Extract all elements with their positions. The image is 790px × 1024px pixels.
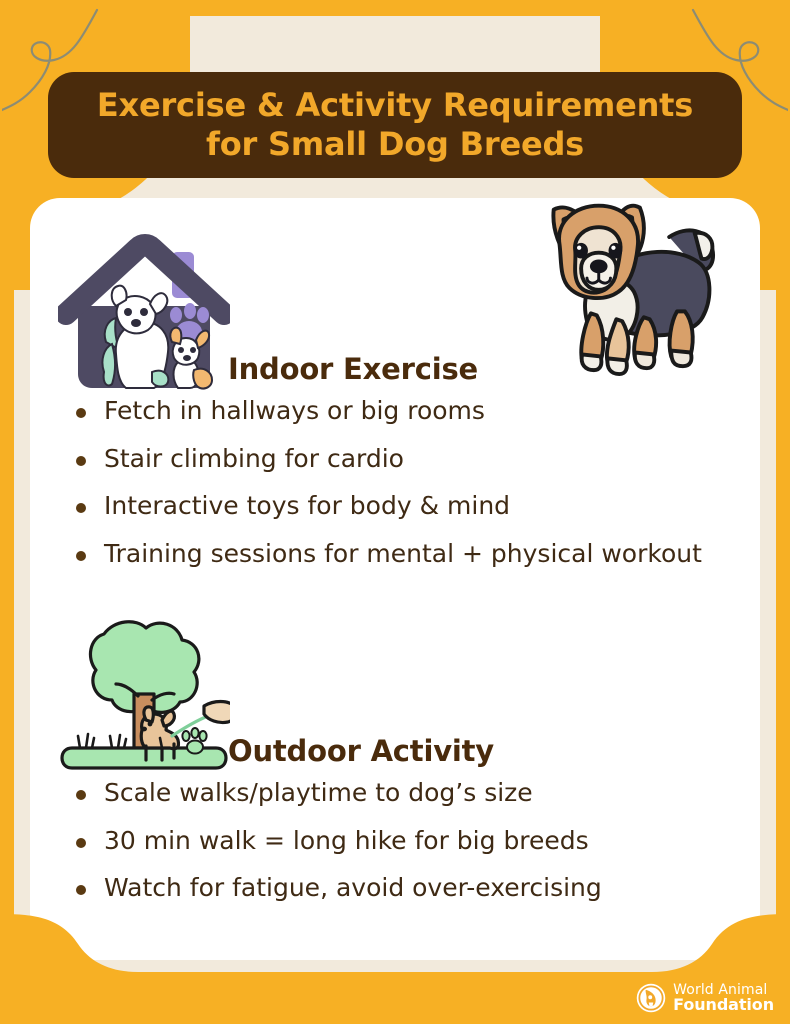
list-item: Scale walks/playtime to dog’s size [72, 780, 742, 806]
list-item: Fetch in hallways or big rooms [72, 398, 742, 424]
list-item: 30 min walk = long hike for big breeds [72, 828, 742, 854]
section-indoor-title: Indoor Exercise [228, 352, 478, 386]
indoor-bullet-list: Fetch in hallways or big rooms Stair cli… [30, 398, 760, 566]
section-outdoor-title: Outdoor Activity [228, 734, 494, 768]
house-with-dogs-icon [58, 222, 230, 394]
logo-wordmark: World Animal Foundation [673, 983, 774, 1014]
list-item: Watch for fatigue, avoid over-exercising [72, 875, 742, 901]
list-item: Training sessions for mental + physical … [72, 541, 742, 567]
list-item: Interactive toys for body & mind [72, 493, 742, 519]
poster-title-banner: Exercise & Activity Requirements for Sma… [48, 72, 742, 178]
infographic-poster: Exercise & Activity Requirements for Sma… [0, 0, 790, 1024]
section-outdoor-header: Outdoor Activity [30, 608, 760, 780]
page-title: Exercise & Activity Requirements for Sma… [97, 86, 693, 164]
outdoor-bullet-list: Scale walks/playtime to dog’s size 30 mi… [30, 780, 760, 901]
section-indoor-exercise: Indoor Exercise Fetch in hallways or big… [30, 222, 760, 588]
world-animal-foundation-logo: World Animal Foundation [636, 983, 774, 1014]
section-indoor-header: Indoor Exercise [30, 222, 760, 398]
content-card: Indoor Exercise Fetch in hallways or big… [30, 198, 760, 960]
world-animal-foundation-emblem-icon [636, 983, 666, 1013]
logo-line-2: Foundation [673, 997, 774, 1014]
page-title-line-1: Exercise & Activity Requirements [97, 86, 693, 125]
page-title-line-2: for Small Dog Breeds [97, 125, 693, 164]
tree-with-dog-on-leash-icon [58, 608, 230, 780]
list-item: Stair climbing for cardio [72, 446, 742, 472]
section-outdoor-activity: Outdoor Activity Scale walks/playtime to… [30, 608, 760, 923]
